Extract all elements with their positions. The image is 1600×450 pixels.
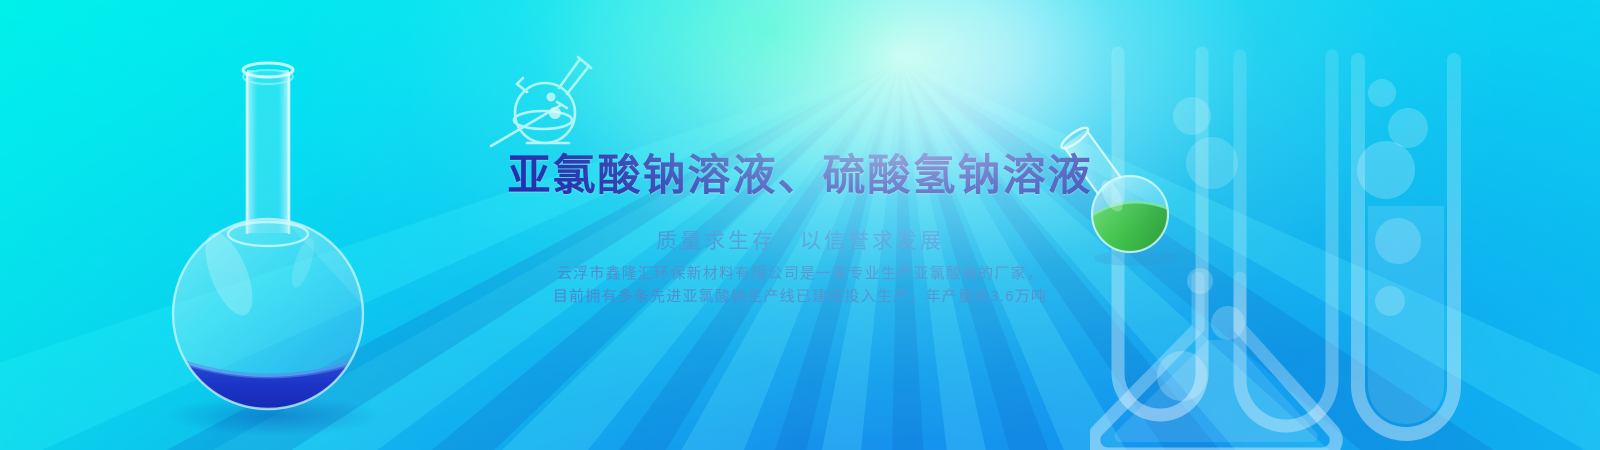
promo-banner: 亚氯酸钠溶液、硫酸氢钠溶液 质量求生存 以信誉求发展 云浮市鑫隆汇环保新材料有限… — [0, 0, 1600, 450]
sunburst-rays-dark — [0, 0, 1600, 450]
